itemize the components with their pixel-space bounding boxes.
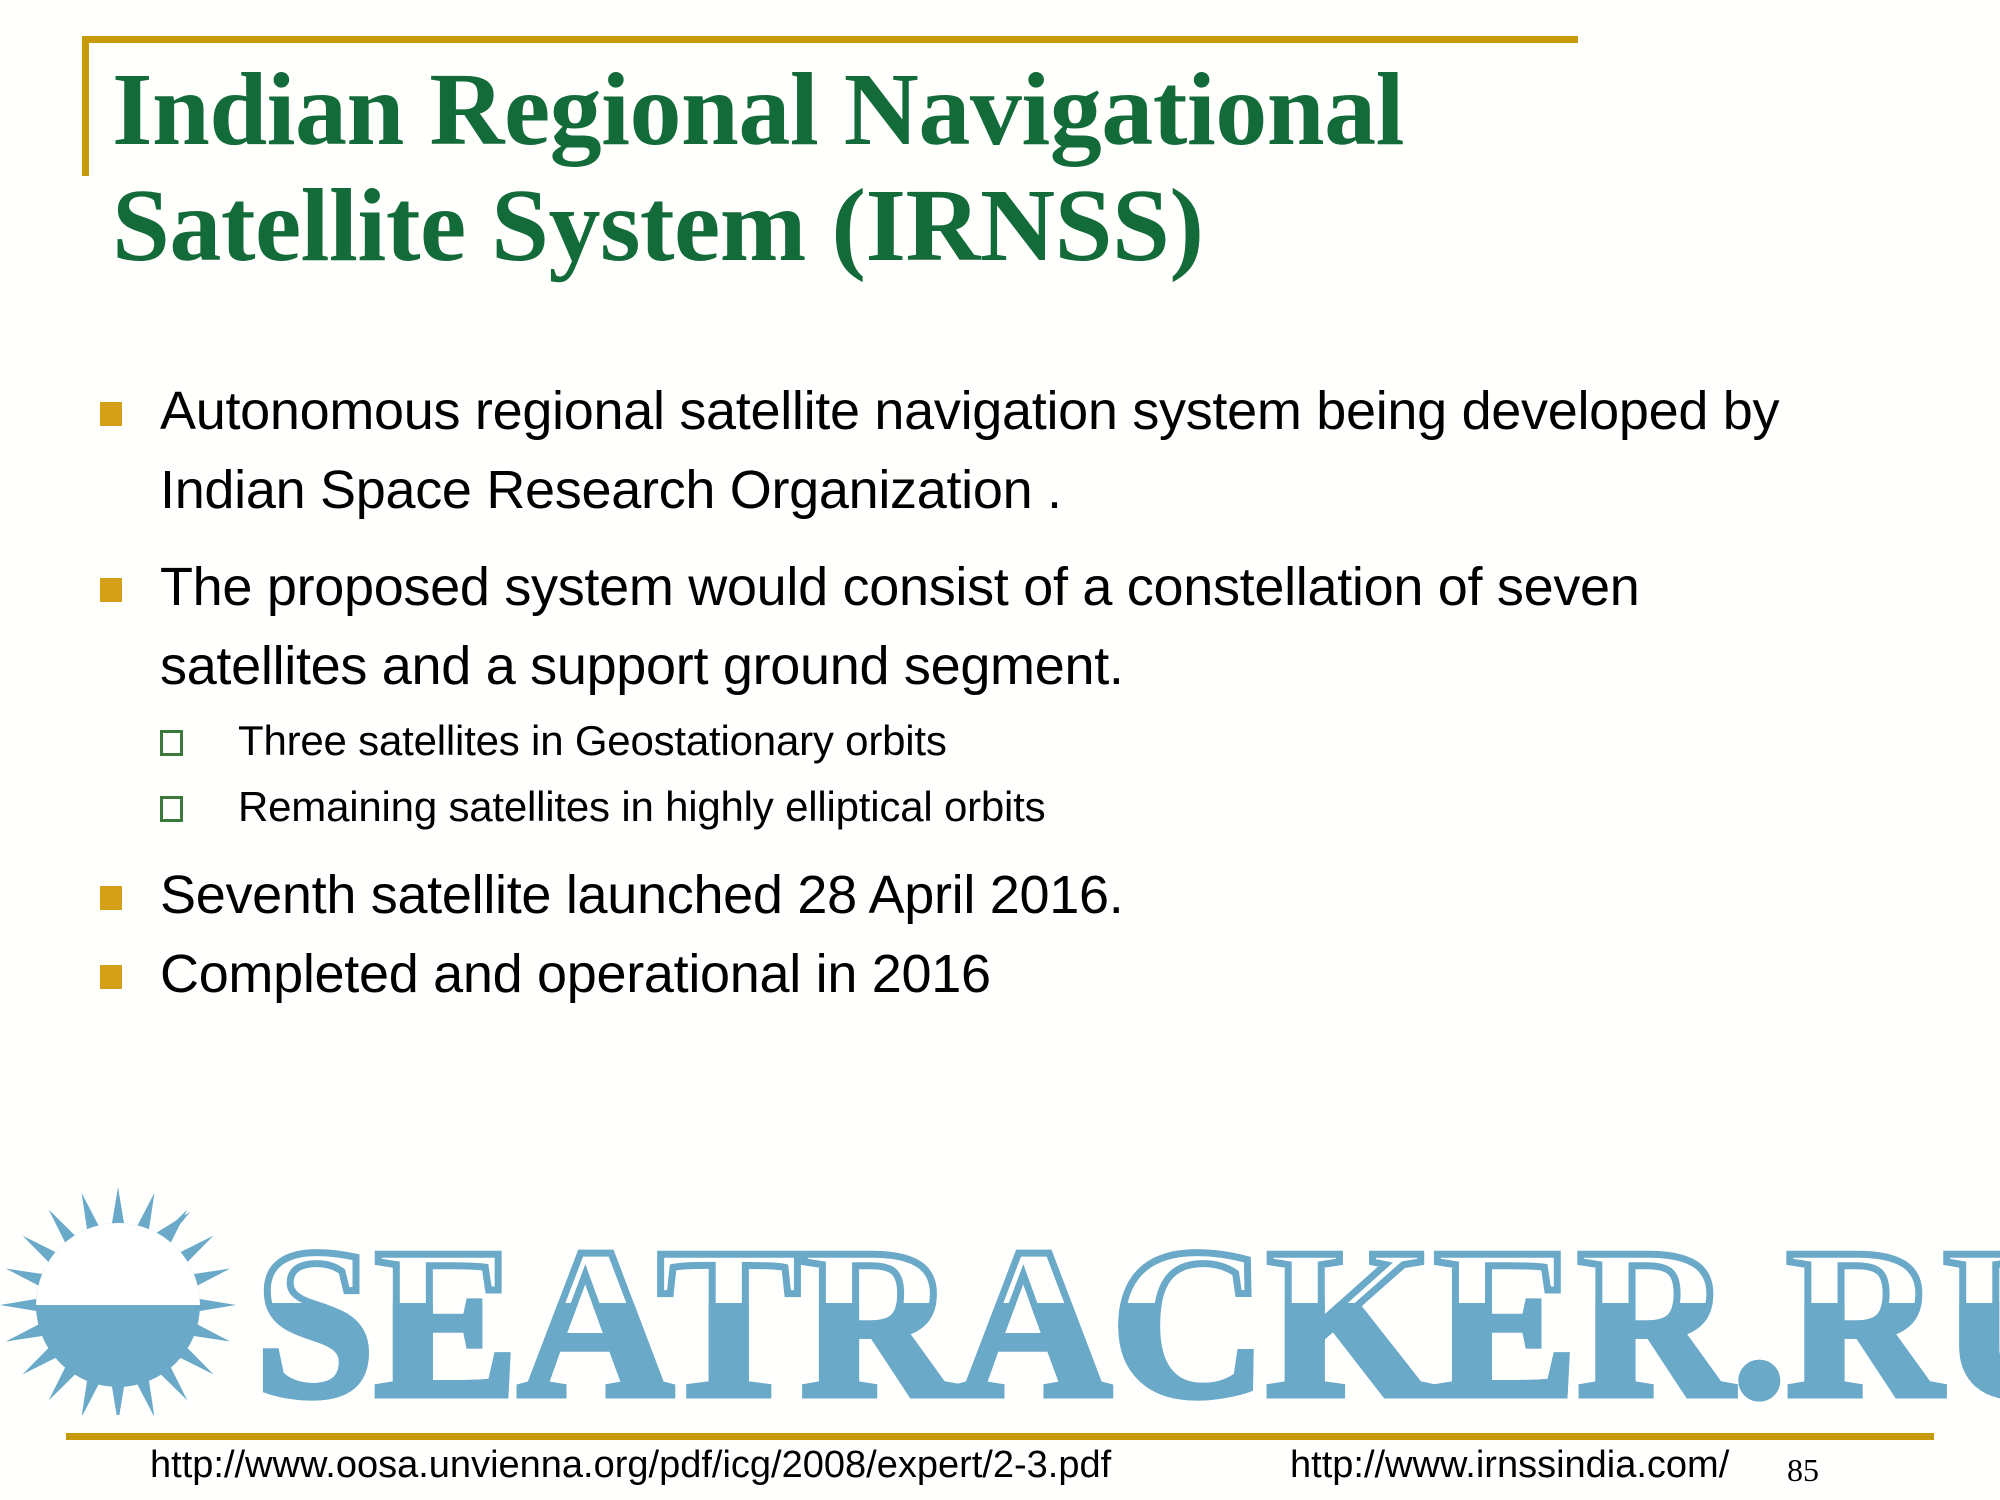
bullet-square-icon (100, 935, 160, 989)
bullet-text: Seventh satellite launched 28 April 2016… (160, 856, 1123, 935)
watermark: SEATRACKER.RU SEATRACKER.RU (0, 1185, 2000, 1415)
bullet-item: Completed and operational in 2016 (100, 935, 1900, 1014)
bullet-text: The proposed system would consist of a c… (160, 548, 1860, 706)
slide-title: Indian Regional Navigational Satellite S… (112, 52, 1612, 284)
bullet-hollow-square-icon (160, 776, 238, 822)
frame-left-rule (82, 36, 89, 176)
footer-rule (66, 1433, 1934, 1440)
bullet-square-icon (100, 548, 160, 602)
footer-source-url-right[interactable]: http://www.irnssindia.com/ (1290, 1444, 1729, 1487)
sub-bullet-text: Remaining satellites in highly elliptica… (238, 776, 1045, 838)
slide-body: Autonomous regional satellite navigation… (100, 372, 1900, 1014)
watermark-text-outline: SEATRACKER.RU (255, 1203, 2000, 1415)
bullet-square-icon (100, 856, 160, 910)
bullet-hollow-square-icon (160, 710, 238, 756)
sub-bullet-item: Three satellites in Geostationary orbits (100, 710, 1900, 772)
bullet-item: The proposed system would consist of a c… (100, 548, 1900, 706)
frame-top-rule (82, 36, 1578, 43)
footer-source-url-left[interactable]: http://www.oosa.unvienna.org/pdf/icg/200… (150, 1444, 1111, 1487)
bullet-square-icon (100, 372, 160, 426)
bullet-text: Completed and operational in 2016 (160, 935, 991, 1014)
presentation-slide: Indian Regional Navigational Satellite S… (0, 0, 2000, 1500)
watermark-text-fill: SEATRACKER.RU (255, 1203, 2000, 1415)
bullet-text: Autonomous regional satellite navigation… (160, 372, 1860, 530)
bullet-item: Autonomous regional satellite navigation… (100, 372, 1900, 530)
bullet-item: Seventh satellite launched 28 April 2016… (100, 856, 1900, 935)
sunrise-logo-icon (0, 1187, 236, 1415)
slide-title-line-1: Indian Regional Navigational (112, 52, 1612, 168)
sub-bullet-item: Remaining satellites in highly elliptica… (100, 776, 1900, 838)
page-number: 85 (1787, 1452, 1819, 1489)
sub-bullet-text: Three satellites in Geostationary orbits (238, 710, 947, 772)
slide-title-line-2: Satellite System (IRNSS) (112, 168, 1612, 284)
